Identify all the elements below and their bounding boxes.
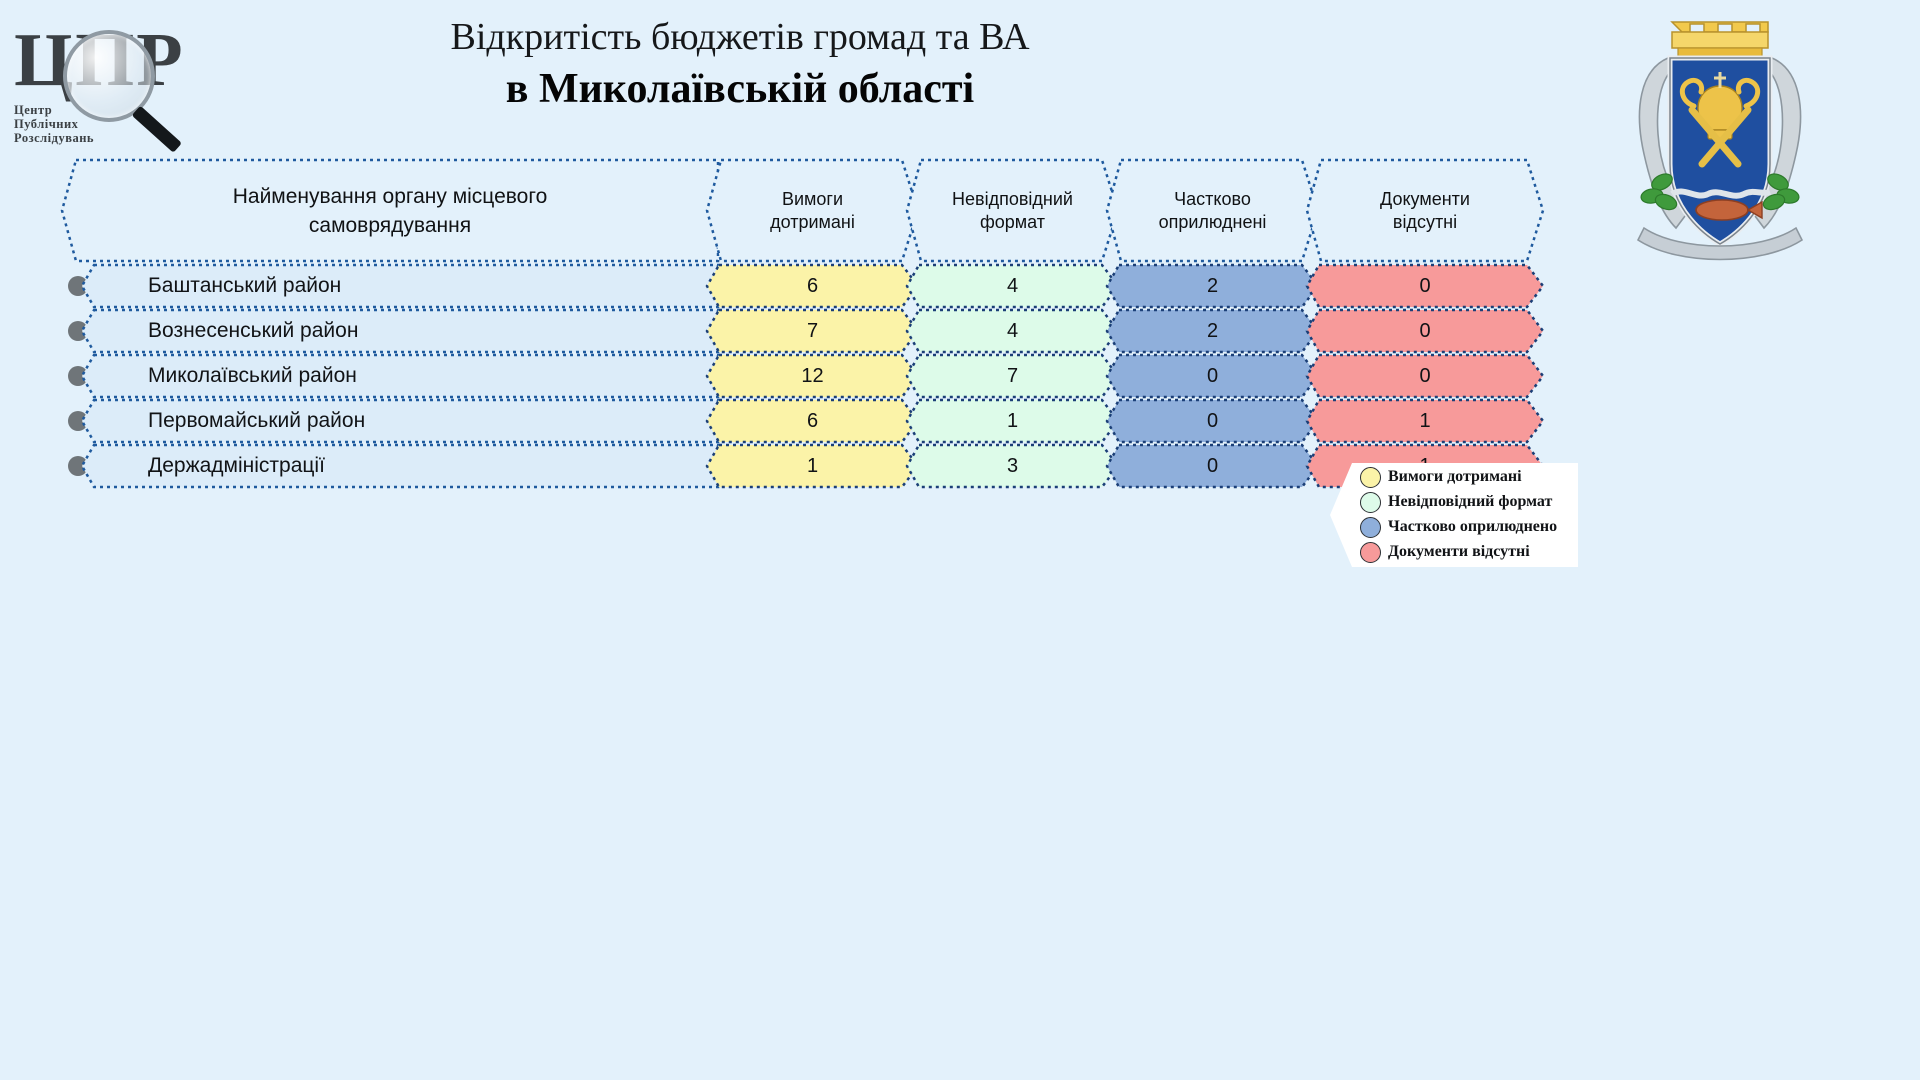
cell-requirements-met: 6 [705,263,920,309]
legend-item-partially-published[interactable]: Частково оприлюднено [1360,514,1557,540]
column-header-partially-published-line-2: оприлюднені [1159,211,1267,234]
legend-label-requirements-met: Вимоги дотримані [1388,468,1522,486]
column-header-requirements-met-line-2: дотримані [770,211,855,234]
cell-value-partially-published: 0 [1105,353,1320,399]
row-name-cell: Первомайський район [80,398,720,444]
cell-value-requirements-met: 6 [705,263,920,309]
cell-value-partially-published: 2 [1105,308,1320,354]
cell-value-requirements-met: 6 [705,398,920,444]
cell-requirements-met: 1 [705,443,920,489]
cell-requirements-met: 12 [705,353,920,399]
column-header-wrong-format-line-1: Невідповідний [952,188,1073,211]
legend-label-partially-published: Частково оприлюднено [1388,518,1557,536]
cell-wrong-format: 3 [905,443,1120,489]
cell-value-wrong-format: 4 [905,308,1120,354]
cell-value-requirements-met: 12 [705,353,920,399]
cell-value-requirements-met: 7 [705,308,920,354]
cell-requirements-met: 7 [705,308,920,354]
column-header-documents-missing: Документи відсутні [1305,158,1545,263]
row-name-cell: Баштанський район [80,263,720,309]
coat-of-arms-icon [1610,14,1830,274]
row-name-cell: Вознесенський район [80,308,720,354]
legend: Вимоги дотримані Невідповідний формат Ча… [1330,463,1578,567]
column-header-requirements-met: Вимоги дотримані [705,158,920,263]
table-body: Баштанський район6420Вознесенський район… [60,263,1600,489]
legend-swatch-yellow-icon [1360,467,1381,488]
cell-documents-missing: 0 [1305,308,1545,354]
title-line-2: в Миколаївській області [300,62,1180,116]
row-name-label: Баштанський район [80,274,341,298]
table-row: Миколаївський район12700 [60,353,1600,399]
cell-value-wrong-format: 1 [905,398,1120,444]
logo-subtitle-line-1: Центр [14,104,94,117]
data-table: Найменування органу місцевого самоврядув… [60,158,1600,488]
title-line-1: Відкритість бюджетів громад та ВА [300,14,1180,60]
column-header-name-line-1: Найменування органу місцевого [233,182,548,211]
table-row: Вознесенський район7420 [60,308,1600,354]
cell-wrong-format: 1 [905,398,1120,444]
legend-swatch-blue-icon [1360,517,1381,538]
legend-label-wrong-format: Невідповідний формат [1388,493,1552,511]
table-header-row: Найменування органу місцевого самоврядув… [60,158,1600,263]
table-row: Баштанський район6420 [60,263,1600,309]
cell-value-partially-published: 0 [1105,443,1320,489]
row-name-label: Миколаївський район [80,364,357,388]
legend-label-documents-missing: Документи відсутні [1388,543,1530,561]
cell-documents-missing: 0 [1305,353,1545,399]
cell-value-documents-missing: 0 [1305,263,1545,309]
column-header-requirements-met-line-1: Вимоги [770,188,855,211]
cell-partially-published: 2 [1105,308,1320,354]
cell-value-documents-missing: 0 [1305,353,1545,399]
cell-partially-published: 0 [1105,353,1320,399]
column-header-partially-published-line-1: Частково [1159,188,1267,211]
cell-value-requirements-met: 1 [705,443,920,489]
row-name-label: Первомайський район [80,409,365,433]
cell-value-partially-published: 0 [1105,398,1320,444]
cpr-logo: ЦПР Центр Публічних Розслідувань [8,22,188,132]
legend-item-wrong-format[interactable]: Невідповідний формат [1360,489,1552,515]
cell-wrong-format: 4 [905,308,1120,354]
column-header-wrong-format: Невідповідний формат [905,158,1120,263]
magnifier-handle-icon [132,106,182,153]
cell-value-documents-missing: 1 [1305,398,1545,444]
column-header-documents-missing-line-2: відсутні [1380,211,1470,234]
column-header-name-line-2: самоврядування [233,211,548,240]
cell-value-wrong-format: 7 [905,353,1120,399]
column-header-documents-missing-line-1: Документи [1380,188,1470,211]
row-name-cell: Миколаївський район [80,353,720,399]
logo-subtitle: Центр Публічних Розслідувань [14,104,94,146]
cell-value-documents-missing: 0 [1305,308,1545,354]
column-header-partially-published: Частково оприлюднені [1105,158,1320,263]
page-title: Відкритість бюджетів громад та ВА в Мико… [300,14,1180,116]
cell-partially-published: 2 [1105,263,1320,309]
cell-value-partially-published: 2 [1105,263,1320,309]
legend-swatch-green-icon [1360,492,1381,513]
legend-swatch-red-icon [1360,542,1381,563]
cell-documents-missing: 1 [1305,398,1545,444]
cell-value-wrong-format: 3 [905,443,1120,489]
table-row: Первомайський район6101 [60,398,1600,444]
legend-item-requirements-met[interactable]: Вимоги дотримані [1360,464,1522,490]
cell-documents-missing: 0 [1305,263,1545,309]
cell-partially-published: 0 [1105,398,1320,444]
row-name-label: Держадміністрації [80,454,325,478]
cell-value-wrong-format: 4 [905,263,1120,309]
column-header-wrong-format-line-2: формат [952,211,1073,234]
cell-wrong-format: 4 [905,263,1120,309]
legend-item-documents-missing[interactable]: Документи відсутні [1360,539,1530,565]
cell-requirements-met: 6 [705,398,920,444]
logo-subtitle-line-2: Публічних [14,118,94,131]
row-name-cell: Держадміністрації [80,443,720,489]
logo-subtitle-line-3: Розслідувань [14,132,94,145]
cell-partially-published: 0 [1105,443,1320,489]
column-header-name: Найменування органу місцевого самоврядув… [60,158,720,263]
row-name-label: Вознесенський район [80,319,358,343]
cell-wrong-format: 7 [905,353,1120,399]
